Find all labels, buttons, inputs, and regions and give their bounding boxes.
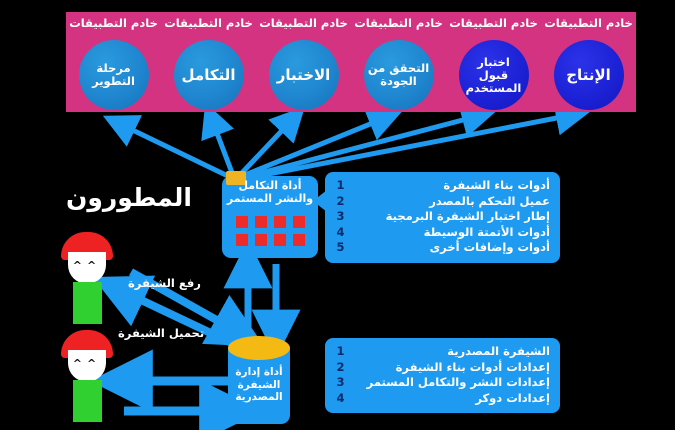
pipeline-stage-3[interactable]: خادم التطبيقات الاختبار: [256, 12, 351, 112]
led-indicator: [236, 216, 248, 228]
stage-server-label: خادم التطبيقات: [449, 16, 538, 30]
legend-item: الشيفرة المصدرية 1: [335, 344, 550, 360]
pipeline-stage-1[interactable]: خادم التطبيقات مرحلة التطوير: [66, 12, 161, 112]
legend-item-text: أدوات بناء الشيفرة: [356, 178, 550, 194]
legend-item-text: أدوات الأتمتة الوسيطة: [356, 225, 550, 241]
legend-item: إعدادات أدوات بناء الشيفرة 2: [335, 360, 550, 376]
legend-item-number: 5: [335, 240, 346, 256]
pipeline-stage-2[interactable]: خادم التطبيقات التكامل: [161, 12, 256, 112]
repository-cylinder-top: [228, 336, 290, 360]
legend-item-number: 3: [335, 375, 346, 391]
pipeline-stage-4[interactable]: خادم التطبيقات التحقق من الجودة: [351, 12, 446, 112]
legend-item-number: 1: [335, 178, 346, 194]
legend-item-text: إعدادات النشر والتكامل المستمر: [356, 375, 550, 391]
legend-item-text: أدوات وإضافات أخرى: [356, 240, 550, 256]
pull-code-label: تحميل الشيفرة: [118, 326, 204, 340]
repository-label: أداة إدارة الشيفرة المصدرية: [228, 366, 290, 404]
led-indicator: [236, 234, 248, 246]
legend-item-number: 3: [335, 209, 346, 225]
developer-figure-1[interactable]: ^^: [55, 232, 119, 322]
stage-circle-development[interactable]: مرحلة التطوير: [79, 40, 149, 110]
legend-item: أدوات وإضافات أخرى 5: [335, 240, 550, 256]
push-code-label: رفع الشيفرة: [128, 276, 201, 290]
ci-led-grid: [222, 216, 318, 246]
legend-item-number: 4: [335, 391, 346, 407]
ci-repo-arrows: [248, 264, 276, 332]
stage-server-label: خادم التطبيقات: [164, 16, 253, 30]
led-indicator: [255, 216, 267, 228]
legend-item-text: عميل التحكم بالمصدر: [356, 194, 550, 210]
legend-item-text: الشيفرة المصدرية: [356, 344, 550, 360]
legend-item-text: إعدادات دوكر: [356, 391, 550, 407]
legend-repository: الشيفرة المصدرية 1 إعدادات أدوات بناء ال…: [325, 338, 560, 413]
legend-item-number: 2: [335, 360, 346, 376]
legend-item: إعدادات دوكر 4: [335, 391, 550, 407]
led-indicator: [274, 216, 286, 228]
led-indicator: [293, 216, 305, 228]
legend-item-text: إطار اختبار الشيفرة البرمجية: [356, 209, 550, 225]
stage-circle-production[interactable]: الإنتاج: [554, 40, 624, 110]
ci-to-stage-arrows: [120, 115, 572, 179]
stage-circle-integration[interactable]: التكامل: [174, 40, 244, 110]
pipeline-stage-6[interactable]: خادم التطبيقات الإنتاج: [541, 12, 636, 112]
led-indicator: [293, 234, 305, 246]
stage-server-label: خادم التطبيقات: [544, 16, 633, 30]
legend-item: إطار اختبار الشيفرة البرمجية 3: [335, 209, 550, 225]
stage-server-label: خادم التطبيقات: [354, 16, 443, 30]
developer-body-icon: [73, 380, 102, 422]
source-code-repository-node[interactable]: أداة إدارة الشيفرة المصدرية: [228, 336, 290, 424]
legend-item-number: 2: [335, 194, 346, 210]
ci-tool-label: أداة التكامل والنشر المستمر: [222, 179, 318, 205]
legend-item: أدوات الأتمتة الوسيطة 4: [335, 225, 550, 241]
developer-eyes-icon: ^^: [68, 260, 106, 271]
legend-item: أدوات بناء الشيفرة 1: [335, 178, 550, 194]
stage-circle-uat[interactable]: اختبار قبول المستخدم: [459, 40, 529, 110]
legend-item: عميل التحكم بالمصدر 2: [335, 194, 550, 210]
pipeline-stage-5[interactable]: خادم التطبيقات اختبار قبول المستخدم: [446, 12, 541, 112]
legend-item: إعدادات النشر والتكامل المستمر 3: [335, 375, 550, 391]
developers-title: المطورون: [34, 183, 224, 212]
stage-circle-qa[interactable]: التحقق من الجودة: [364, 40, 434, 110]
legend-item-number: 1: [335, 344, 346, 360]
stage-circle-testing[interactable]: الاختبار: [269, 40, 339, 110]
led-indicator: [255, 234, 267, 246]
developer-body-icon: [73, 282, 102, 324]
developer-figure-2[interactable]: ^^: [55, 330, 119, 420]
legend-item-number: 4: [335, 225, 346, 241]
diagram-canvas: خادم التطبيقات مرحلة التطوير خادم التطبي…: [0, 0, 675, 430]
stage-server-label: خادم التطبيقات: [259, 16, 348, 30]
developer-eyes-icon: ^^: [68, 358, 106, 369]
stage-server-label: خادم التطبيقات: [69, 16, 158, 30]
led-indicator: [274, 234, 286, 246]
legend-item-text: إعدادات أدوات بناء الشيفرة: [356, 360, 550, 376]
legend-ci-tool: أدوات بناء الشيفرة 1 عميل التحكم بالمصدر…: [325, 172, 560, 263]
